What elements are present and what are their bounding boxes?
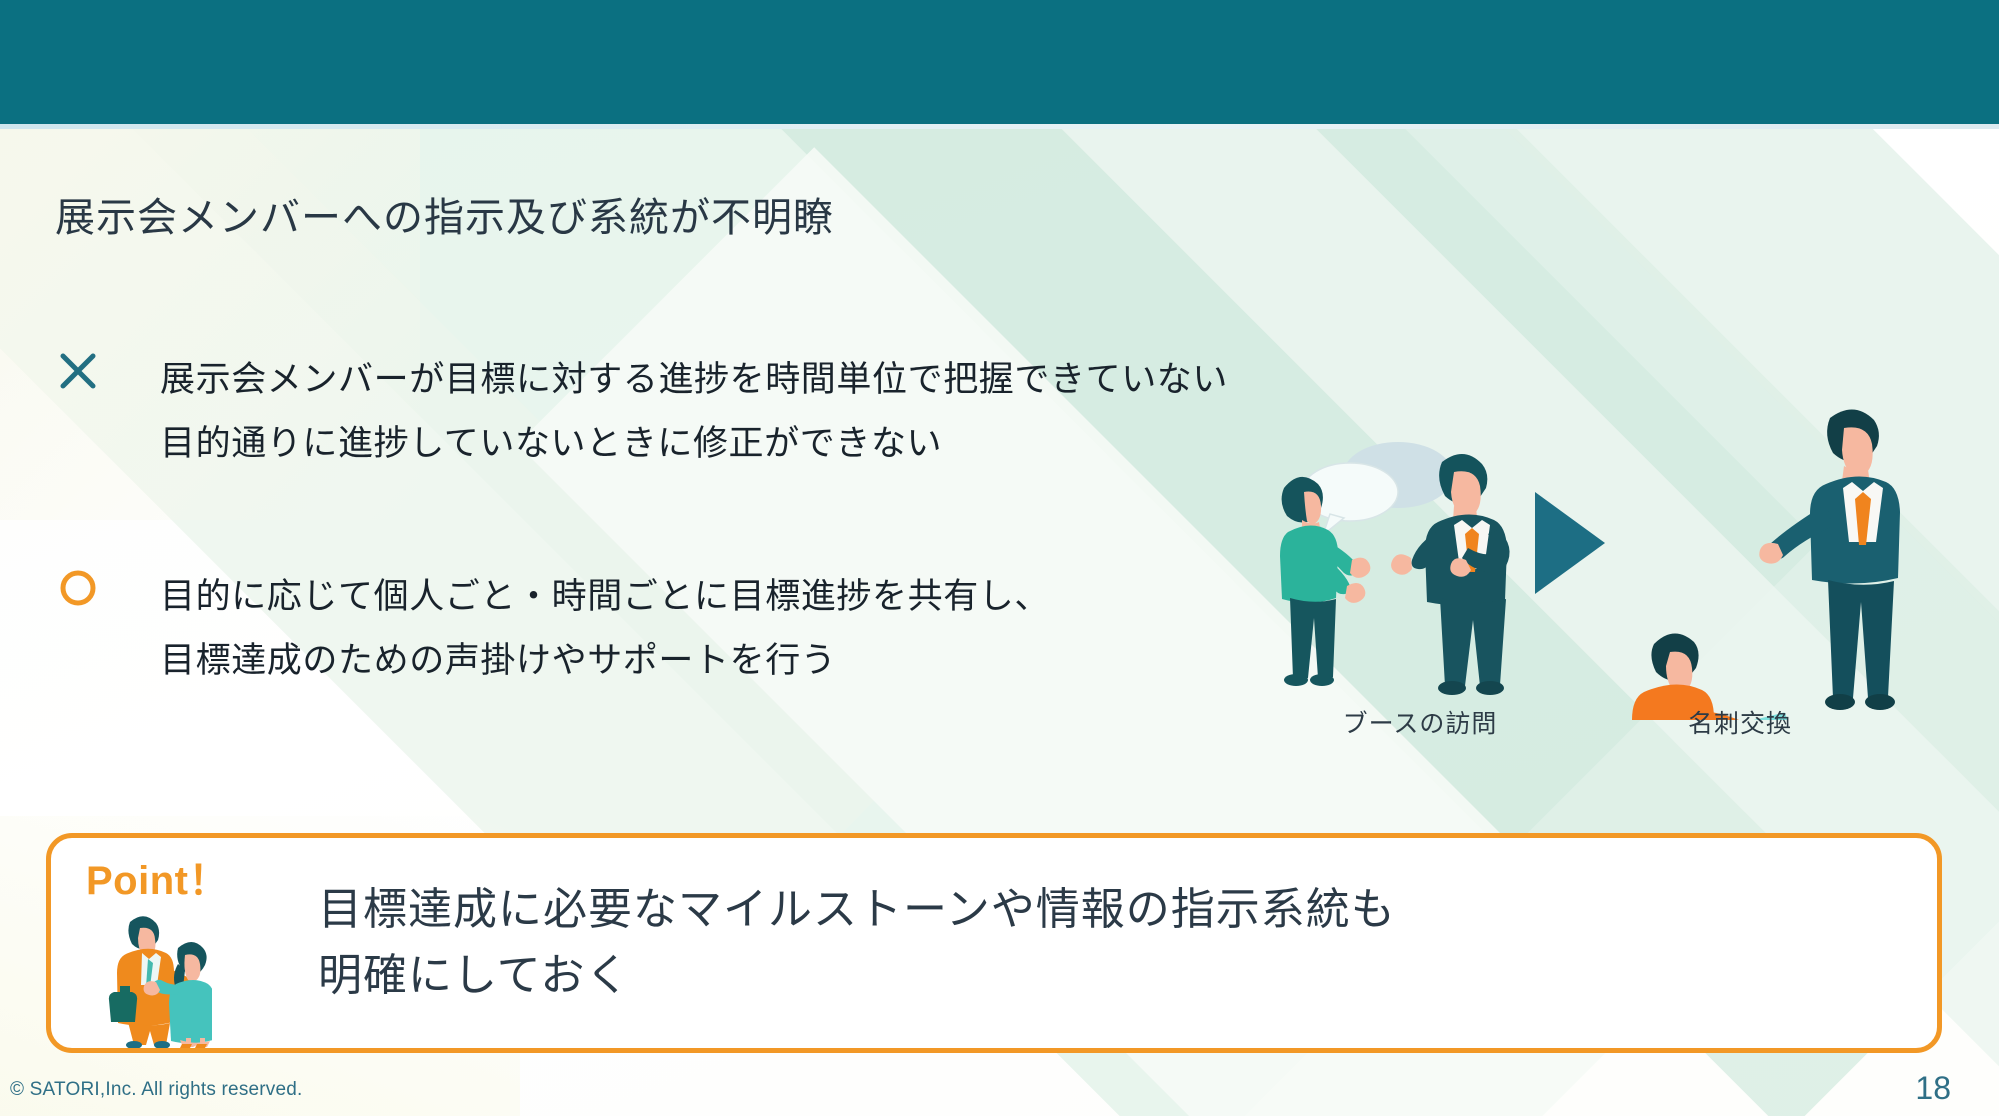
bullet-line: 目的に応じて個人ごと・時間ごとに目標進捗を共有し、 <box>160 565 1050 629</box>
handshake-icon <box>92 908 212 1048</box>
point-line: 目標達成に必要なマイルストーンや情報の指示系統も <box>318 877 1396 943</box>
bullet-line: 目的通りに進捗していないときに修正ができない <box>160 412 1228 476</box>
bullet-line: 展示会メンバーが目標に対する進捗を時間単位で把握できていない <box>160 348 1228 412</box>
illustration-group <box>1230 380 1970 720</box>
bullet-group-ok: 目的に応じて個人ごと・時間ごとに目標進捗を共有し、 目標達成のための声掛けやサポ… <box>55 565 1050 693</box>
bullet-group-ng: 展示会メンバーが目標に対する進捗を時間単位で把握できていない 目的通りに進捗して… <box>55 348 1228 476</box>
bullet-text-ng: 展示会メンバーが目標に対する進捗を時間単位で把握できていない 目的通りに進捗して… <box>160 348 1228 476</box>
bullet-text-ok: 目的に応じて個人ごと・時間ごとに目標進捗を共有し、 目標達成のための声掛けやサポ… <box>160 565 1050 693</box>
point-label: Point！ <box>86 848 229 906</box>
slide-canvas: 展示会当日のNG行動 その2 展示会メンバーへの指示及び系統が不明瞭 展示会メン… <box>0 0 1999 1116</box>
point-line: 明確にしておく <box>318 943 1396 1009</box>
arrow-right-icon <box>1535 492 1605 594</box>
bullet-line: 目標達成のための声掛けやサポートを行う <box>160 629 1050 693</box>
illustration-caption-right: 名刺交換 <box>1640 704 1840 740</box>
illustration-caption-left: ブースの訪問 <box>1300 704 1540 740</box>
page-number: 18 <box>1915 1070 1951 1107</box>
scene-card-exchange <box>1632 409 1900 720</box>
point-text: 目標達成に必要なマイルストーンや情報の指示系統も 明確にしておく <box>318 877 1396 1009</box>
cross-mark-icon <box>55 348 101 394</box>
copyright-notice: © SATORI,Inc. All rights reserved. <box>10 1079 303 1101</box>
section-subtitle: 展示会メンバーへの指示及び系統が不明瞭 <box>55 185 834 243</box>
slide-header-bar <box>0 0 1999 124</box>
scene-booth-visit <box>1280 442 1510 695</box>
header-underline <box>0 124 1999 129</box>
circle-mark-icon <box>55 565 101 611</box>
